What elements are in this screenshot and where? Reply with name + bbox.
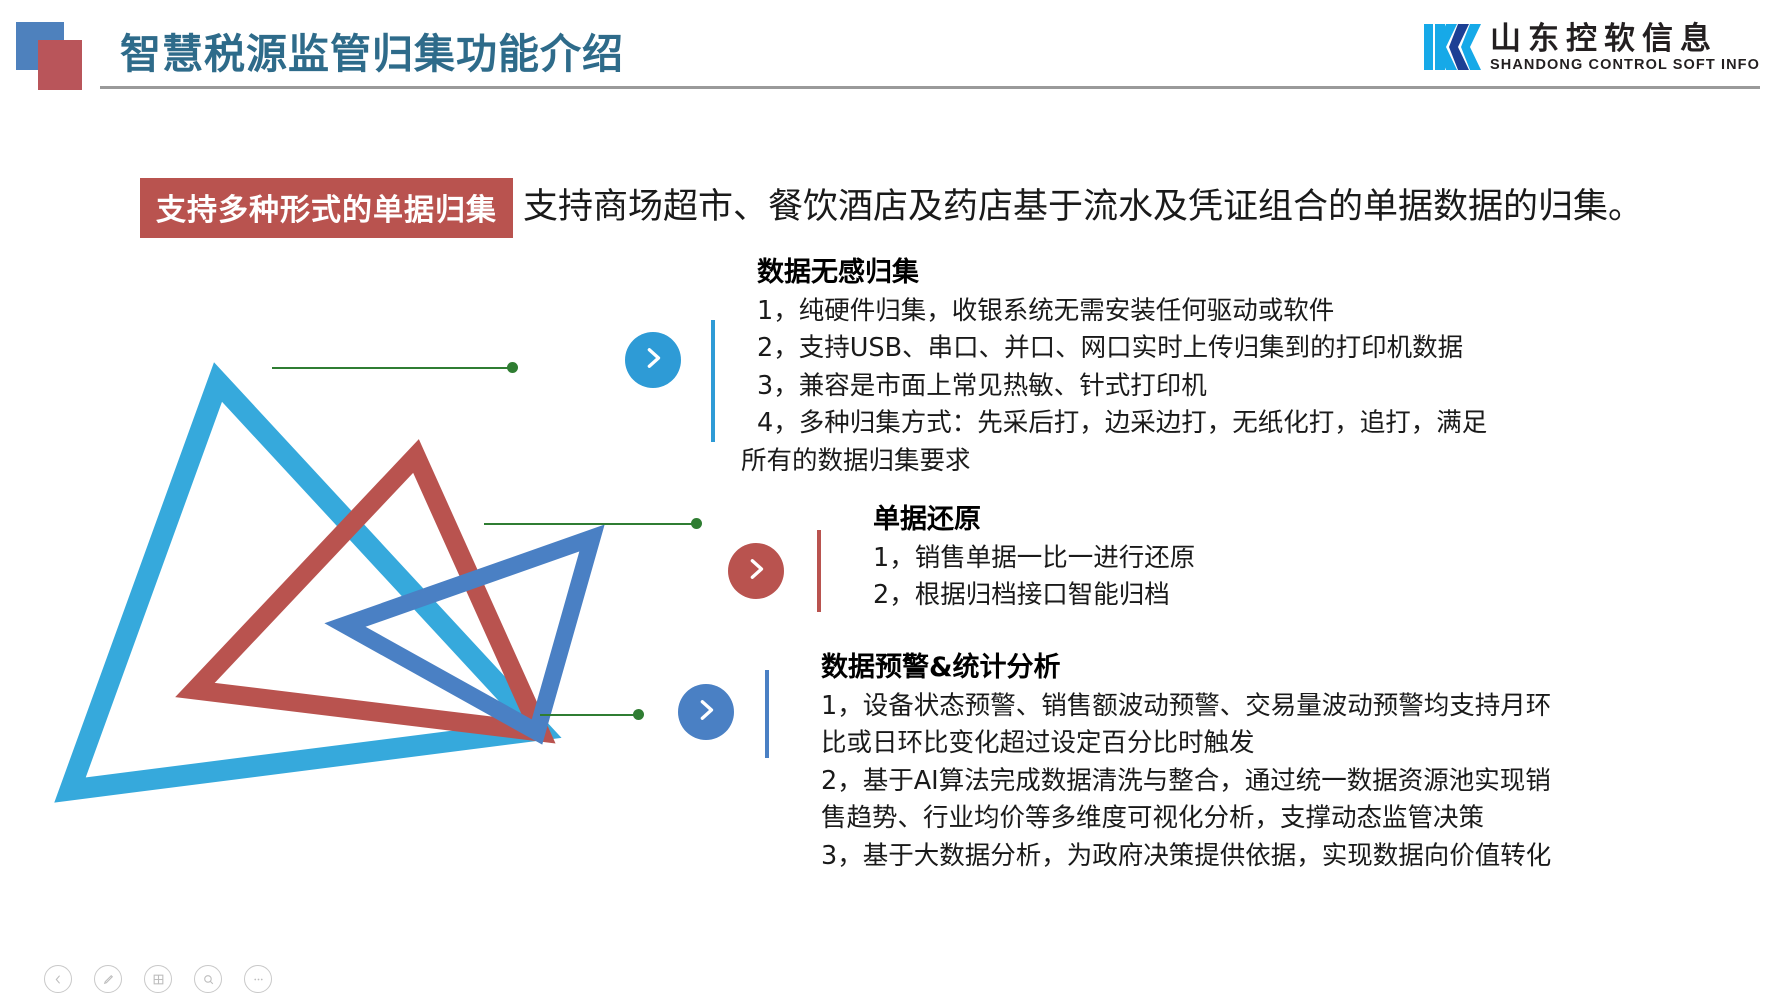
block-2-line-2: 2，根据归档接口智能归档 [873, 577, 1573, 614]
block-3-line-4: 售趋势、行业均价等多维度可视化分析，支撑动态监管决策 [821, 800, 1601, 837]
block-3-chevron-button[interactable] [678, 684, 734, 740]
block-3-line-5: 3，基于大数据分析，为政府决策提供依据，实现数据向价值转化 [821, 838, 1601, 875]
chevron-right-icon [695, 699, 717, 726]
block-2-line-1: 1，销售单据一比一进行还原 [873, 540, 1573, 577]
block-1-accent-bar [711, 320, 715, 442]
block-2-title: 单据还原 [873, 497, 1573, 536]
company-name-en: SHANDONG CONTROL SOFT INFO [1490, 58, 1760, 73]
block-1-line-3: 3，兼容是市面上常见热敏、针式打印机 [757, 368, 1517, 405]
block-3: 数据预警&统计分析 1，设备状态预警、销售额波动预警、交易量波动预警均支持月环 … [821, 645, 1601, 875]
block-1-chevron-button[interactable] [625, 332, 681, 388]
block-1-line-2: 2，支持USB、串口、并口、网口实时上传归集到的打印机数据 [757, 330, 1517, 367]
connector-line-3 [540, 714, 638, 716]
prev-arrow-icon[interactable] [44, 965, 72, 993]
block-3-line-3: 2，基于AI算法完成数据清洗与整合，通过统一数据资源池实现销 [821, 763, 1601, 800]
company-name-cn: 山东控软信息 [1490, 24, 1760, 55]
block-3-line-1: 1，设备状态预警、销售额波动预警、交易量波动预警均支持月环 [821, 688, 1601, 725]
connector-dot-3 [633, 709, 644, 720]
section-subtitle: 支持商场超市、餐饮酒店及药店基于流水及凭证组合的单据数据的归集。 [523, 178, 1643, 229]
block-2: 单据还原 1，销售单据一比一进行还原 2，根据归档接口智能归档 [873, 497, 1573, 615]
connector-line-1 [272, 367, 512, 369]
more-icon[interactable] [244, 965, 272, 993]
block-3-line-2: 比或日环比变化超过设定百分比时触发 [821, 725, 1601, 762]
company-logo: 山东控软信息 SHANDONG CONTROL SOFT INFO [1424, 22, 1760, 72]
block-1-title: 数据无感归集 [757, 250, 1517, 289]
red-triangle [195, 456, 540, 732]
block-1: 数据无感归集 1，纯硬件归集，收银系统无需安装任何驱动或软件 2，支持USB、串… [757, 250, 1517, 480]
connector-dot-2 [691, 518, 702, 529]
block-3-accent-bar [765, 670, 769, 758]
block-2-accent-bar [817, 530, 821, 612]
kk-logo-icon [1424, 22, 1482, 72]
header-decor-red-square [38, 40, 82, 90]
block-2-chevron-button[interactable] [728, 543, 784, 599]
block-1-line-4: 4，多种归集方式：先采后打，边采边打，无纸化打，追打，满足 [757, 405, 1517, 442]
chevron-right-icon [642, 347, 664, 374]
pen-icon[interactable] [94, 965, 122, 993]
page-title: 智慧税源监管归集功能介绍 [120, 20, 624, 80]
grid-icon[interactable] [144, 965, 172, 993]
zoom-icon[interactable] [194, 965, 222, 993]
block-1-line-1: 1，纯硬件归集，收银系统无需安装任何驱动或软件 [757, 293, 1517, 330]
block-3-title: 数据预警&统计分析 [821, 645, 1601, 684]
connector-dot-1 [507, 362, 518, 373]
section-tag: 支持多种形式的单据归集 [140, 178, 513, 238]
chevron-right-icon [745, 558, 767, 585]
header-divider [100, 86, 1760, 89]
connector-line-2 [484, 523, 696, 525]
decorative-triangles [40, 360, 740, 830]
block-1-line-5: 所有的数据归集要求 [741, 443, 1517, 480]
slide-root: 智慧税源监管归集功能介绍 山东控软信息 SHANDONG CONTROL SOF… [0, 0, 1776, 1001]
bottom-toolbar [44, 965, 272, 993]
